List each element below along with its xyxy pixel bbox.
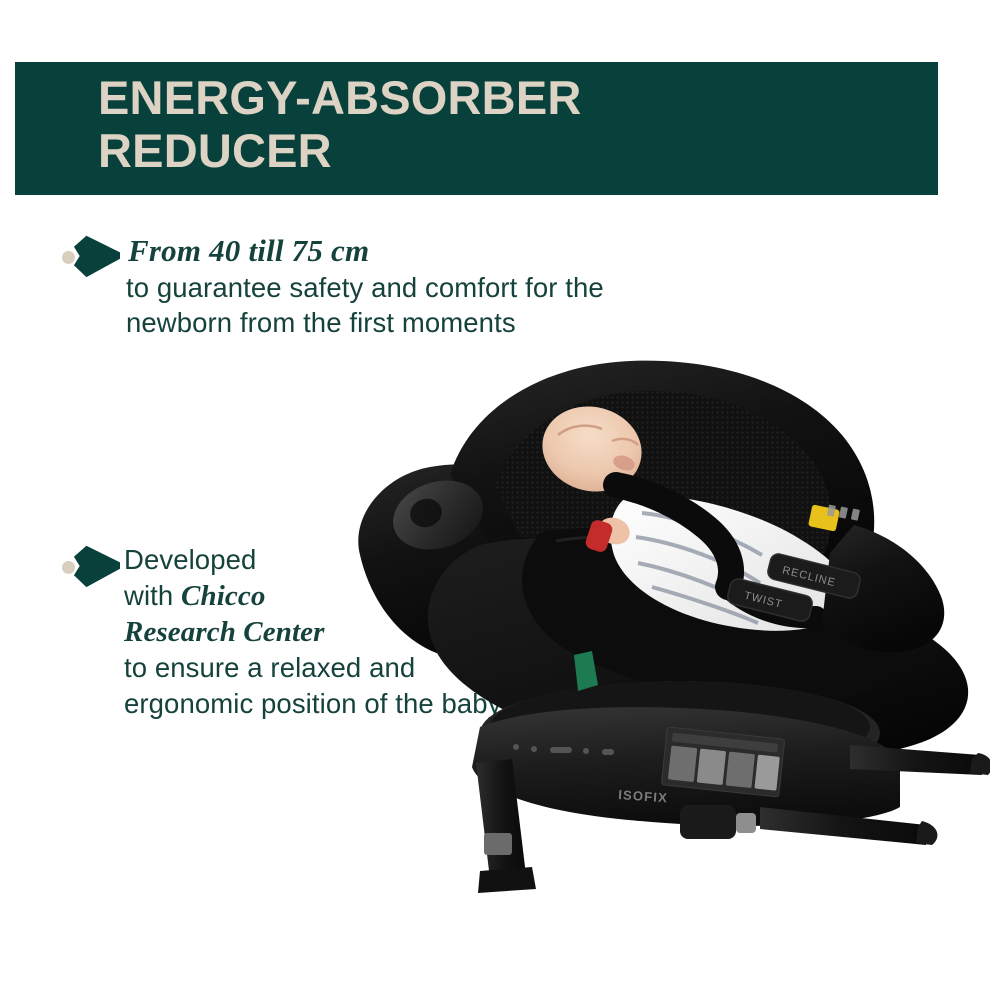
bullet-1-body: to guarantee safety and comfort for the …: [126, 270, 806, 340]
bullet-1-lead: From 40 till 75 cm: [128, 232, 369, 270]
header-banner: ENERGY-ABSORBER REDUCER: [15, 62, 938, 195]
page-title: ENERGY-ABSORBER REDUCER: [98, 71, 918, 177]
infographic-canvas: ENERGY-ABSORBER REDUCER From 40 till 75 …: [0, 0, 1000, 1000]
bullet-dot-icon: [62, 251, 75, 264]
diamond-bullet-icon: [58, 230, 128, 282]
isofix-release-handle[interactable]: [680, 805, 736, 839]
brand-name-chicco: Chicco: [181, 580, 265, 612]
product-photo-car-seat: RECLINE TWIST: [330, 355, 990, 895]
support-leg-foot: [478, 867, 536, 893]
support-leg-indicator: [484, 833, 512, 855]
isofix-release-indicator: [736, 813, 756, 833]
bullet-diamond-icon: [72, 233, 120, 279]
car-seat-illustration: RECLINE TWIST: [330, 355, 990, 895]
diamond-bullet-icon-2: [58, 540, 128, 592]
brand-name-research-center: Research Center: [124, 616, 324, 648]
bullet-2-line1: Developed: [124, 544, 256, 575]
bullet-2-with: with: [124, 580, 181, 611]
bullet-diamond-icon: [72, 543, 120, 589]
bullet-dot-icon: [62, 561, 75, 574]
